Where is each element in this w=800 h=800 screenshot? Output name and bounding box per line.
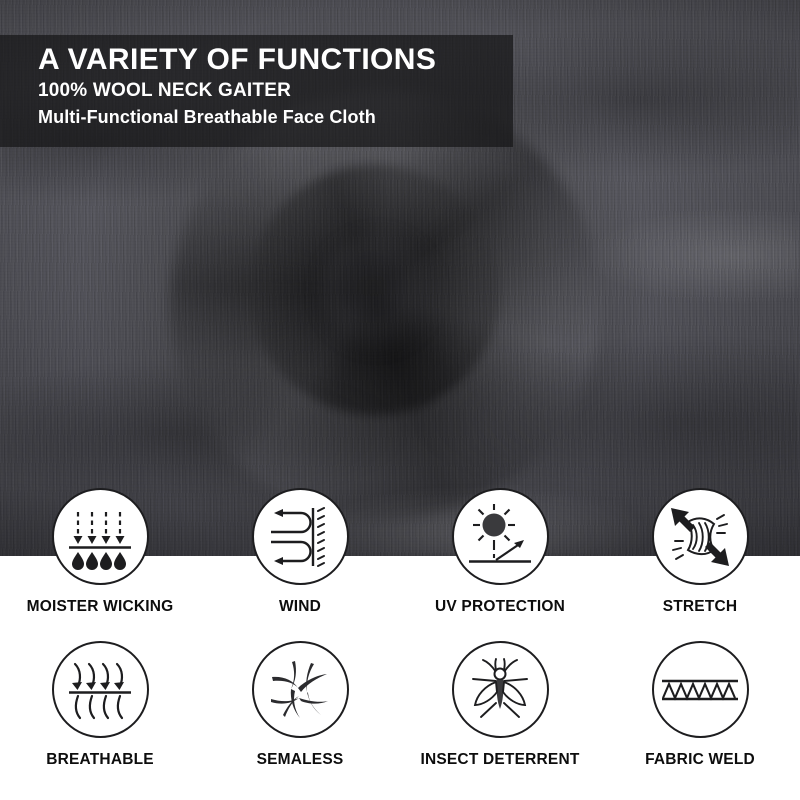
fabric-weld-icon xyxy=(660,655,740,725)
headline-subtitle-secondary: Multi-Functional Breathable Face Cloth xyxy=(38,106,513,129)
headline-title: A VARIETY OF FUNCTIONS xyxy=(38,44,513,75)
insect-wing-right xyxy=(503,682,525,705)
stretch-icon xyxy=(665,502,735,572)
feature-item-uv-protection: UV PROTECTION xyxy=(400,488,600,616)
insect-body xyxy=(497,680,504,709)
fabric-weld-badge xyxy=(652,641,749,738)
feature-item-breathable: BREATHABLE xyxy=(0,641,200,769)
seamless-weave-strands xyxy=(271,661,328,718)
insect-wing-left xyxy=(475,682,497,705)
wind-barrier-dashes xyxy=(318,508,324,566)
seamless-icon xyxy=(265,655,335,725)
insect-head xyxy=(495,668,506,679)
feature-label: FABRIC WELD xyxy=(645,751,755,769)
feature-item-fabric-weld: FABRIC WELD xyxy=(600,641,800,769)
headline-subtitle-primary: 100% WOOL NECK GAITER xyxy=(38,79,513,102)
sun-disc xyxy=(483,513,506,536)
uv-protection-badge xyxy=(452,488,549,585)
feature-label: MOISTER WICKING xyxy=(27,598,174,616)
breathable-badge xyxy=(52,641,149,738)
insect-deterrent-icon xyxy=(465,655,535,725)
water-droplets xyxy=(72,552,126,570)
feature-label: SEMALESS xyxy=(257,751,344,769)
breathable-icon xyxy=(65,655,135,725)
stretch-badge xyxy=(652,488,749,585)
seamless-badge xyxy=(252,641,349,738)
weld-zigzag-seam xyxy=(663,684,735,698)
windproof-icon xyxy=(265,502,335,572)
feature-row-2: BREATHABLE xyxy=(0,641,800,769)
windproof-badge xyxy=(252,488,349,585)
moisture-wicking-badge xyxy=(52,488,149,585)
feature-grid: MOISTER WICKING xyxy=(0,488,800,769)
feature-label: UV PROTECTION xyxy=(435,598,565,616)
insect-deterrent-badge xyxy=(452,641,549,738)
feature-row-1: MOISTER WICKING xyxy=(0,488,800,616)
breathable-lower-flow xyxy=(76,696,122,718)
product-feature-infographic: A VARIETY OF FUNCTIONS 100% WOOL NECK GA… xyxy=(0,0,800,800)
feature-label: INSECT DETERRENT xyxy=(420,751,579,769)
feature-item-moister-wicking: MOISTER WICKING xyxy=(0,488,200,616)
feature-item-semaless: SEMALESS xyxy=(200,641,400,769)
feature-item-stretch: STRETCH xyxy=(600,488,800,616)
uv-protection-icon xyxy=(465,502,535,572)
feature-label: BREATHABLE xyxy=(46,751,154,769)
feature-item-wind: WIND xyxy=(200,488,400,616)
moisture-wicking-icon xyxy=(65,502,135,572)
headline-banner: A VARIETY OF FUNCTIONS 100% WOOL NECK GA… xyxy=(0,35,513,147)
feature-label: WIND xyxy=(279,598,321,616)
feature-label: STRETCH xyxy=(663,598,738,616)
breathable-upper-arrows xyxy=(75,664,122,686)
feature-item-insect-deterrent: INSECT DETERRENT xyxy=(400,641,600,769)
